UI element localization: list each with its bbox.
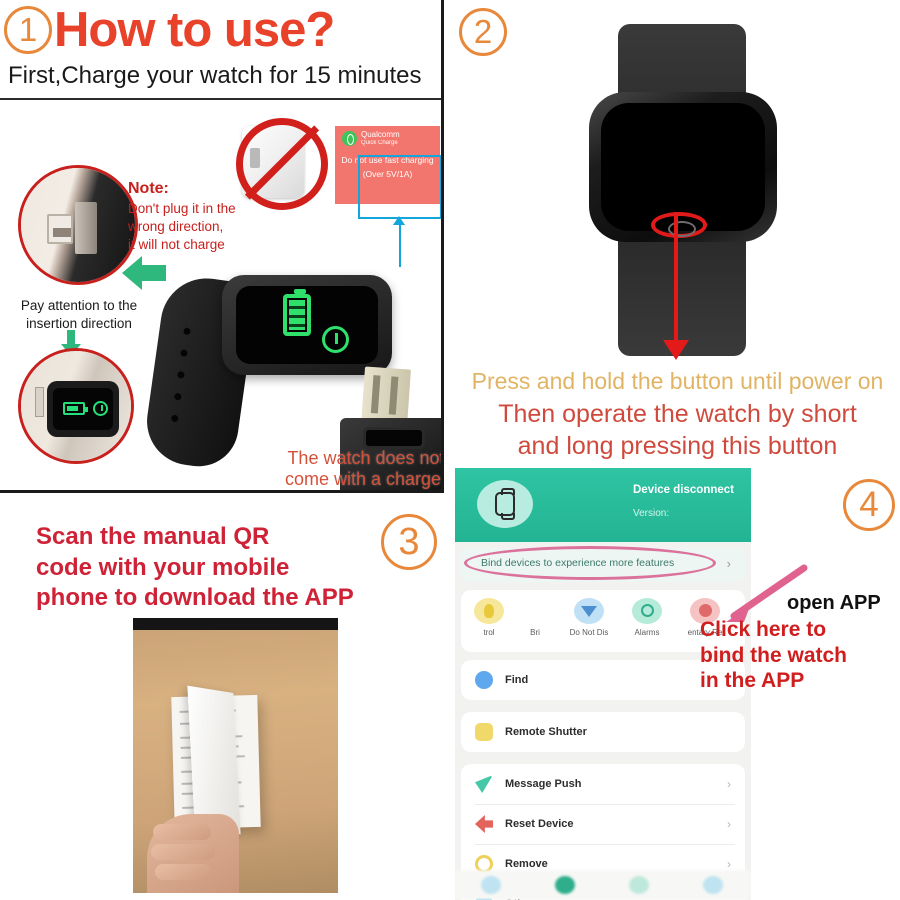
usb-slot: [35, 387, 44, 417]
nav-icon-2[interactable]: [555, 876, 575, 894]
press-hold-instruction: Press and hold the button until power on: [455, 368, 900, 395]
device-status-label: Device disconnect: [633, 484, 734, 496]
reset-device-icon: [475, 815, 493, 833]
qualcomm-name: Qualcomm: [361, 131, 400, 139]
watch-case: [222, 275, 392, 375]
quick-action-label-3: Alarms: [621, 628, 673, 637]
watch-body: [47, 381, 119, 437]
photo-top-edge: [133, 618, 338, 630]
message-push-icon: [475, 775, 493, 793]
app-bottom-nav[interactable]: [455, 870, 751, 900]
scan-qr-heading: Scan the manual QR code with your mobile…: [36, 522, 381, 614]
watch-display: [236, 286, 378, 364]
quick-action-label-1: Bri: [509, 628, 561, 637]
red-pointer-line: [674, 212, 678, 344]
chevron-message-push: ›: [727, 777, 731, 791]
menu-card-shutter: Remote Shutter: [461, 712, 745, 752]
menu-label-remove: Remove: [505, 858, 548, 870]
charger-not-included-note: The watch does not come with a charger: [281, 448, 444, 489]
power-icon: [93, 401, 108, 416]
bind-watch-annotation: Click here to bind the watch in the APP: [700, 617, 900, 694]
menu-label-reset-device: Reset Device: [505, 818, 574, 830]
power-symbol-icon: [322, 326, 349, 353]
paper-fold: [187, 686, 240, 835]
do-not-disturb-icon: [574, 598, 604, 624]
menu-label-message-push: Message Push: [505, 778, 581, 790]
qualcomm-brand-row: Qualcomm Quick Charge: [335, 126, 440, 146]
panel1-subtitle: First,Charge your watch for 15 minutes: [8, 62, 422, 90]
nav-icon-1[interactable]: [481, 876, 501, 894]
insertion-direction-label: Pay attention to the insertion direction: [14, 297, 144, 333]
menu-label-find: Find: [505, 674, 528, 686]
watch-avatar-icon: [477, 480, 533, 528]
usb-port-icon: [47, 214, 73, 244]
alarm-icon: [632, 598, 662, 624]
open-app-annotation: open APP: [787, 592, 881, 615]
bind-row-highlight-ellipse: [464, 546, 716, 580]
page-title: How to use?: [54, 2, 334, 58]
power-button-highlight: [651, 212, 707, 238]
step-number-1: 1: [4, 6, 52, 54]
smartwatch-front-photo: [565, 24, 800, 354]
no-fast-charger-photo: [236, 118, 328, 210]
cyan-pointer-arrowhead: [393, 216, 405, 225]
instruction-sheet: 1 How to use? First,Charge your watch fo…: [0, 0, 900, 900]
qualcomm-subtitle: Quick Charge: [361, 140, 400, 146]
nav-icon-3[interactable]: [629, 876, 649, 894]
step-number-4: 4: [843, 479, 895, 531]
camera-icon: [475, 723, 493, 741]
brightness-icon-2: [520, 598, 550, 624]
menu-item-reset-device[interactable]: Reset Device ›: [461, 804, 745, 844]
hand: [147, 814, 239, 893]
red-pointer-arrowhead: [663, 340, 689, 360]
watch-charging-photo: [18, 348, 134, 464]
step-number-2: 2: [459, 8, 507, 56]
find-icon: [475, 671, 493, 689]
battery-icon: [63, 402, 85, 415]
quick-action-label-0: trol: [463, 628, 515, 637]
version-label: Version:: [633, 508, 669, 519]
nav-icon-4[interactable]: [703, 876, 723, 894]
chevron-remove: ›: [727, 857, 731, 871]
operate-watch-instruction: Then operate the watch by short and long…: [455, 398, 900, 462]
cyan-highlight-box: [358, 155, 442, 219]
chevron-reset-device: ›: [727, 817, 731, 831]
note-body: Don't plug it in the wrong direction, it…: [128, 201, 236, 252]
quick-action-2[interactable]: Do Not Dis: [563, 598, 615, 637]
charger-plate: [75, 202, 97, 254]
menu-item-message-push[interactable]: Message Push ›: [461, 764, 745, 804]
menu-item-remote-shutter[interactable]: Remote Shutter: [461, 712, 745, 752]
quick-action-0[interactable]: trol: [463, 598, 515, 637]
panel-step-1: 1 How to use? First,Charge your watch fo…: [0, 0, 444, 493]
wrong-direction-note: Note: Don't plug it in the wrong directi…: [128, 178, 236, 254]
qualcomm-brand-text: Qualcomm Quick Charge: [361, 131, 400, 145]
step-number-3: 3: [381, 514, 437, 570]
quick-action-3[interactable]: Alarms: [621, 598, 673, 637]
brightness-icon: [474, 598, 504, 624]
battery-charging-icon: [283, 294, 311, 336]
watch-screen: [53, 388, 113, 430]
menu-label-remote-shutter: Remote Shutter: [505, 726, 587, 738]
watch-strap-bottom: [618, 236, 746, 356]
note-title: Note:: [128, 178, 236, 199]
manual-photo: [133, 618, 338, 893]
qualcomm-logo-icon: [342, 131, 357, 146]
quick-action-label-2: Do Not Dis: [563, 628, 615, 637]
divider: [0, 98, 444, 100]
quick-action-1[interactable]: Bri: [509, 598, 561, 637]
